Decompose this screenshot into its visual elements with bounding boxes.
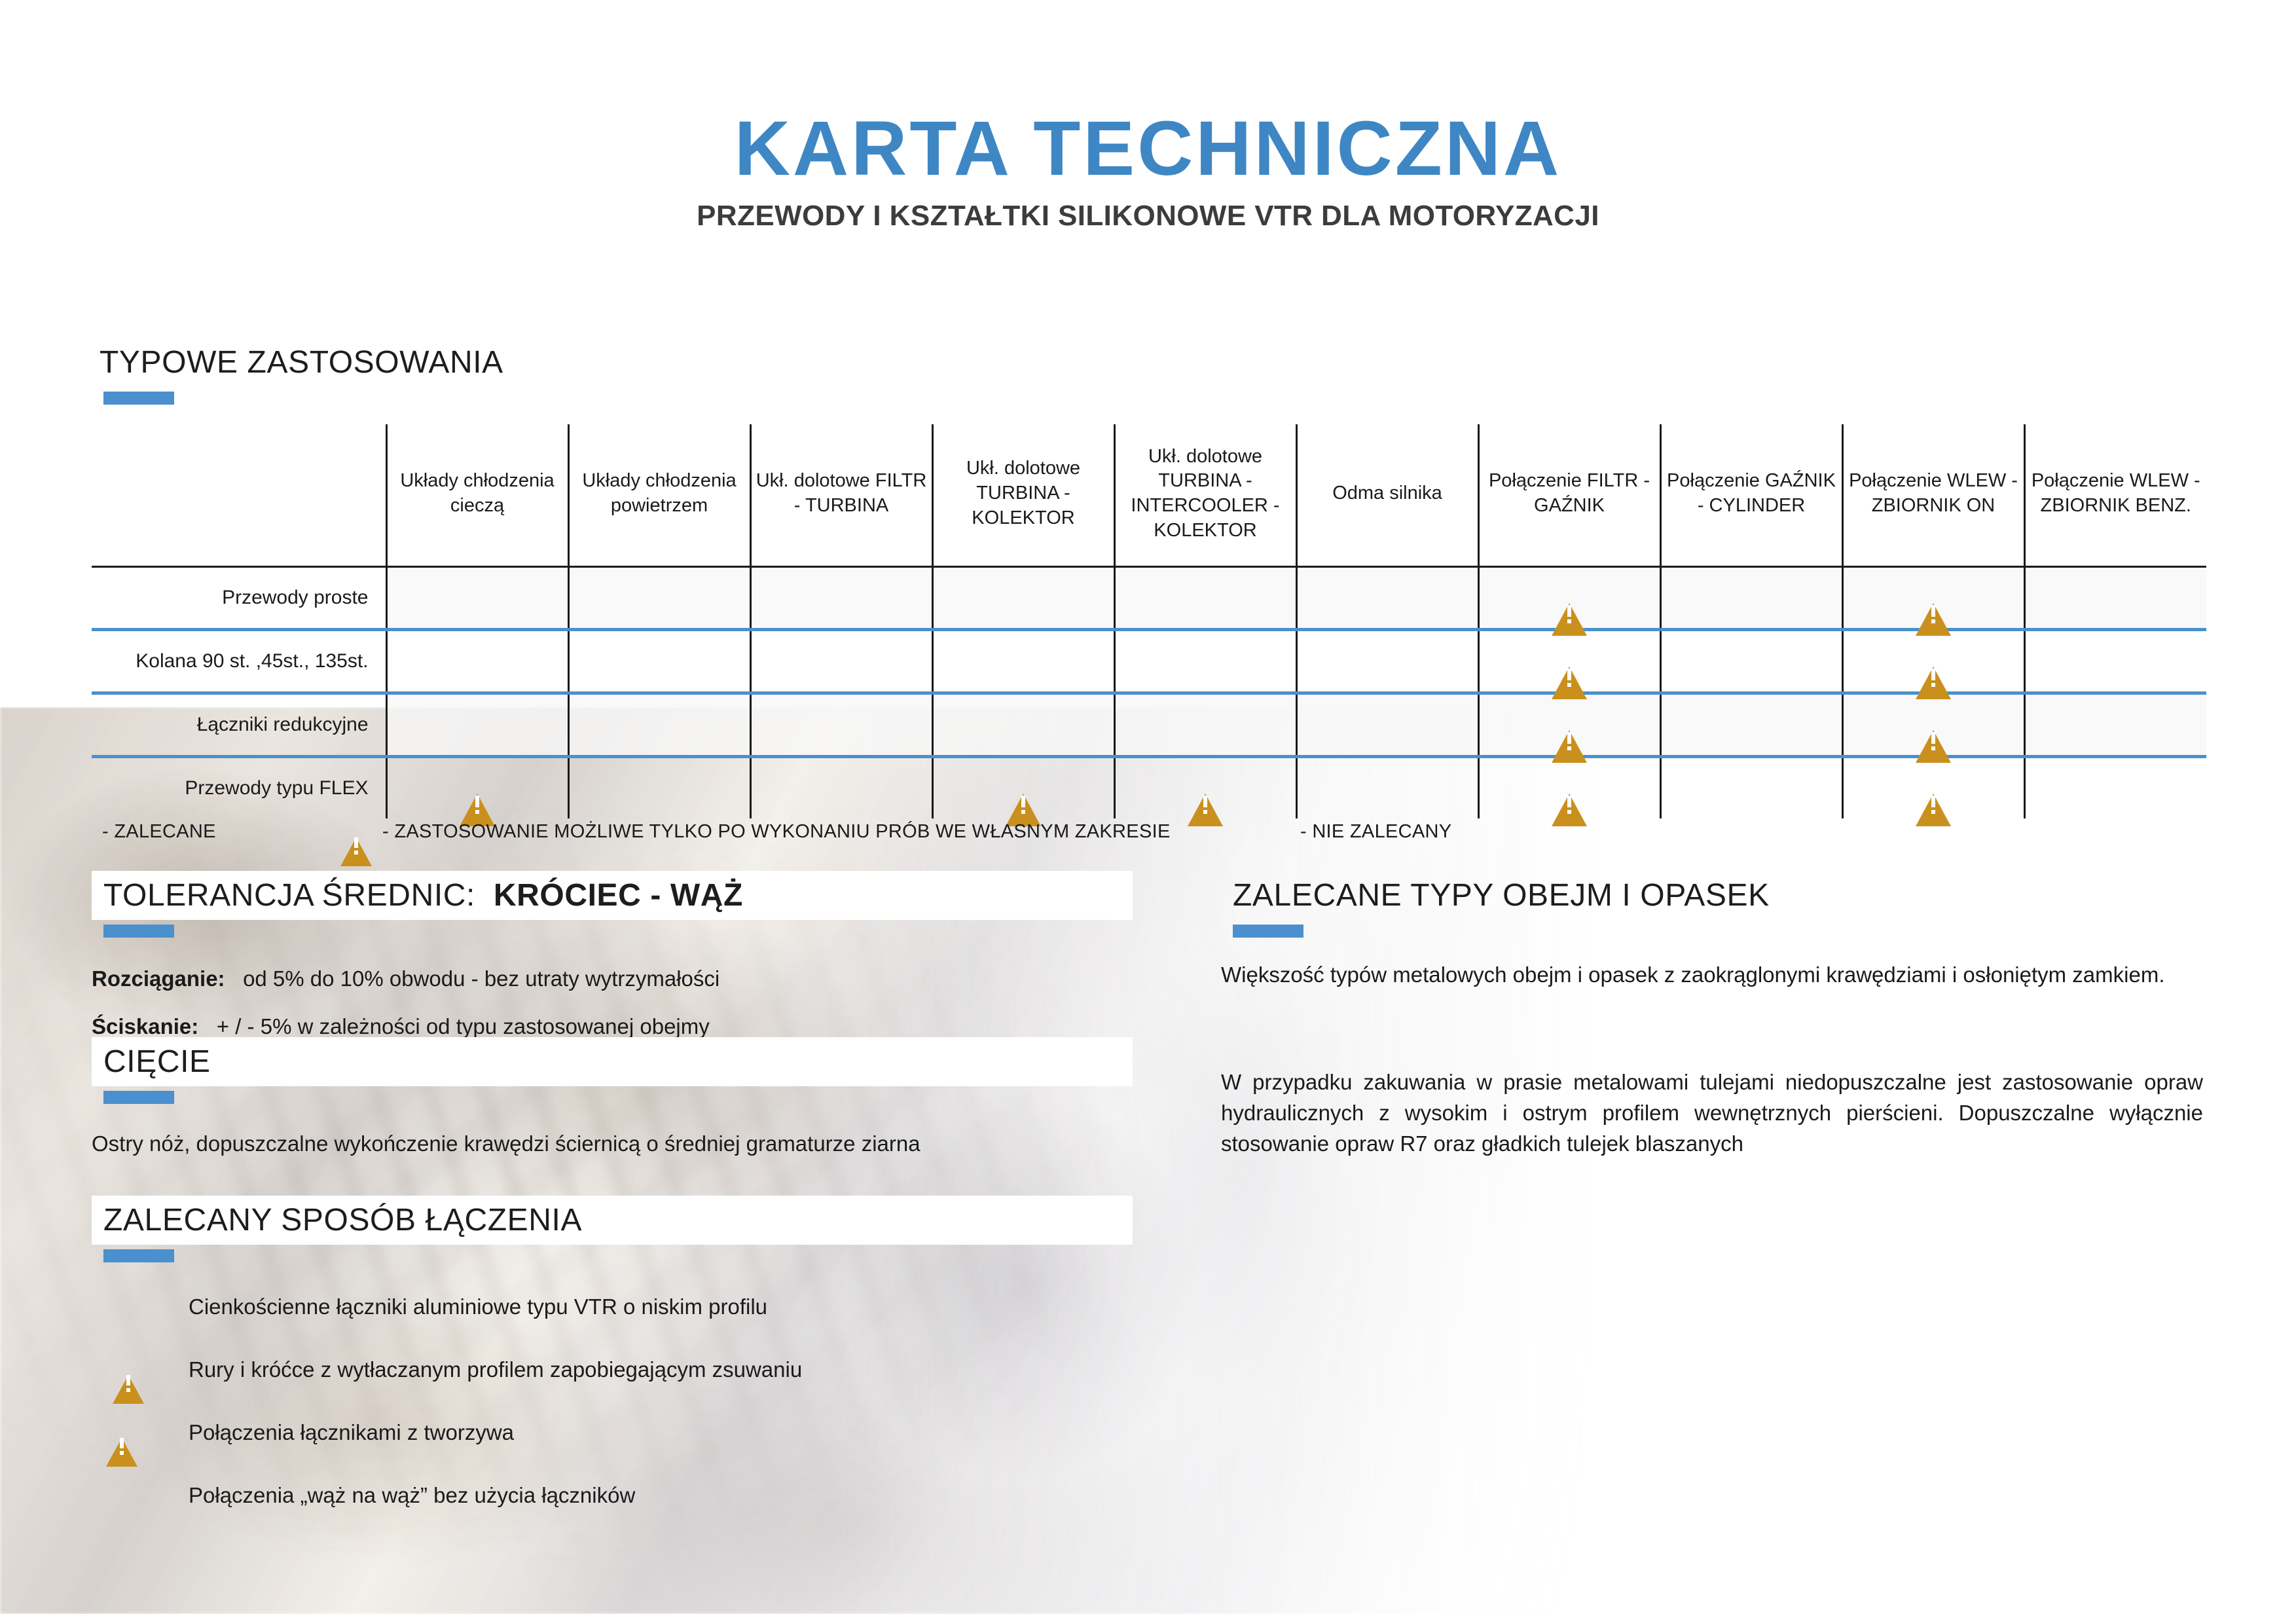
heading-text: CIĘCIE bbox=[103, 1044, 211, 1079]
legend-item-recommended: - ZALECANE bbox=[92, 821, 216, 843]
legend-item-not-recommended: - NIE ZALECANY bbox=[1290, 821, 1451, 843]
item-icons bbox=[92, 1427, 189, 1439]
table-cell-status bbox=[386, 693, 568, 757]
table-cell-status bbox=[1660, 567, 1842, 630]
heading-accent-rule bbox=[103, 1091, 174, 1104]
technical-data-sheet-page: KARTA TECHNICZNA PRZEWODY I KSZTAŁTKI SI… bbox=[0, 0, 2296, 1614]
column-header: Ukł. dolotowe TURBINA - KOLEKTOR bbox=[932, 424, 1114, 567]
table-cell-status bbox=[932, 567, 1114, 630]
legend-item-conditional: - ZASTOSOWANIE MOŻLIWE TYLKO PO WYKONANI… bbox=[340, 821, 1171, 843]
section-heading-ciecie: CIĘCIE bbox=[92, 1037, 1133, 1104]
legend-label: - NIE ZALECANY bbox=[1300, 821, 1451, 843]
heading-text: ZALECANY SPOSÓB ŁĄCZENIA bbox=[103, 1203, 582, 1238]
table-cell-status bbox=[2024, 567, 2206, 630]
warning-icon bbox=[1916, 592, 1951, 604]
table-cell-status bbox=[1478, 693, 1660, 757]
table-cell-status bbox=[2024, 757, 2206, 819]
item-icons bbox=[92, 1364, 189, 1376]
row-label: Przewody proste bbox=[92, 567, 386, 630]
section-heading-zalecane-typy-obejm: ZALECANE TYPY OBEJM I OPASEK bbox=[1221, 871, 2216, 938]
table-cell-status bbox=[1296, 630, 1478, 693]
table-cell-status bbox=[1296, 693, 1478, 757]
table-row: Przewody proste bbox=[92, 567, 2206, 630]
table-cell-status bbox=[1296, 757, 1478, 819]
warning-icon bbox=[113, 1364, 144, 1376]
heading-text-normal: TOLERANCJA ŚREDNIC: bbox=[103, 878, 475, 913]
heading-accent-rule bbox=[103, 925, 174, 938]
warning-icon bbox=[340, 826, 372, 838]
table-cell-status bbox=[386, 567, 568, 630]
warning-icon bbox=[1552, 592, 1587, 604]
table-cell-status bbox=[932, 693, 1114, 757]
table-cell-status bbox=[1842, 630, 2024, 693]
zalecany-sposob-list: Cienkościenne łączniki aluminiowe typu V… bbox=[92, 1289, 1133, 1540]
table-cell-status bbox=[568, 757, 750, 819]
zalecany-sposob-item: Połączenia „wąż na wąż” bez użycia łączn… bbox=[92, 1477, 1133, 1514]
tolerancja-row-label: Rozciąganie: bbox=[92, 966, 225, 991]
column-header: Połączenie GAŹNIK - CYLINDER bbox=[1660, 424, 1842, 567]
row-label: Łączniki redukcyjne bbox=[92, 693, 386, 757]
warning-icon bbox=[1916, 719, 1951, 731]
warning-icon bbox=[1916, 782, 1951, 794]
applications-table: Układy chłodzenia cieczą Układy chłodzen… bbox=[92, 424, 2206, 818]
column-header: Odma silnika bbox=[1296, 424, 1478, 567]
ciecie-body-text: Ostry nóż, dopuszczalne wykończenie kraw… bbox=[92, 1129, 1080, 1160]
heading-band: ZALECANE TYPY OBEJM I OPASEK bbox=[1221, 871, 2216, 920]
column-header: Ukł. dolotowe TURBINA - INTERCOOLER - KO… bbox=[1114, 424, 1296, 567]
column-header: Połączenie FILTR - GAŹNIK bbox=[1478, 424, 1660, 567]
section-heading-typowe-zastosowania: TYPOWE ZASTOSOWANIA bbox=[92, 338, 681, 405]
table-corner-cell bbox=[92, 424, 386, 567]
warning-icon bbox=[1188, 782, 1223, 794]
warning-icon bbox=[106, 1427, 137, 1439]
page-subtitle: PRZEWODY I KSZTAŁTKI SILIKONOWE VTR DLA … bbox=[0, 202, 2296, 230]
obejmy-paragraph-2: W przypadku zakuwania w prasie metalowam… bbox=[1221, 1067, 2203, 1160]
table-cell-status bbox=[1660, 693, 1842, 757]
table-cell-status bbox=[2024, 630, 2206, 693]
heading-text: ZALECANE TYPY OBEJM I OPASEK bbox=[1233, 878, 1770, 913]
heading-text: TYPOWE ZASTOSOWANIA bbox=[100, 345, 503, 380]
heading-text-bold: KRÓCIEC - WĄŻ bbox=[494, 878, 743, 913]
table-row: Łączniki redukcyjne bbox=[92, 693, 2206, 757]
heading-accent-rule bbox=[103, 1249, 174, 1262]
warning-icon bbox=[1552, 782, 1587, 794]
table-cell-status bbox=[1842, 567, 2024, 630]
table-cell-status bbox=[1114, 757, 1296, 819]
row-label: Kolana 90 st. ,45st., 135st. bbox=[92, 630, 386, 693]
table-cell-status bbox=[2024, 693, 2206, 757]
table-cell-status bbox=[750, 757, 932, 819]
table-cell-status bbox=[568, 630, 750, 693]
table-cell-status bbox=[1296, 567, 1478, 630]
table-cell-status bbox=[1842, 693, 2024, 757]
table-cell-status bbox=[1114, 693, 1296, 757]
section-heading-tolerancja: TOLERANCJA ŚREDNIC: KRÓCIEC - WĄŻ bbox=[92, 871, 1133, 938]
heading-text: TOLERANCJA ŚREDNIC: KRÓCIEC - WĄŻ bbox=[103, 878, 743, 913]
legend: - ZALECANE - ZASTOSOWANIE MOŻLIWE TYLKO … bbox=[92, 817, 1597, 864]
table-cell-status bbox=[750, 630, 932, 693]
table-cell-status bbox=[1478, 567, 1660, 630]
heading-accent-rule bbox=[103, 392, 174, 405]
table-header-row: Układy chłodzenia cieczą Układy chłodzen… bbox=[92, 424, 2206, 567]
row-label: Przewody typu FLEX bbox=[92, 757, 386, 819]
table-cell-status bbox=[1478, 757, 1660, 819]
table-cell-status bbox=[750, 693, 932, 757]
table-cell-status bbox=[932, 757, 1114, 819]
item-label: Cienkościenne łączniki aluminiowe typu V… bbox=[189, 1294, 767, 1319]
table-cell-status bbox=[568, 567, 750, 630]
heading-band: ZALECANY SPOSÓB ŁĄCZENIA bbox=[92, 1196, 1133, 1245]
table-cell-status bbox=[932, 630, 1114, 693]
column-header: Połączenie WLEW - ZBIORNIK ON bbox=[1842, 424, 2024, 567]
warning-icon bbox=[1006, 782, 1041, 794]
warning-icon bbox=[460, 782, 495, 794]
table-cell-status bbox=[386, 757, 568, 819]
table-cell-status bbox=[386, 630, 568, 693]
obejmy-paragraph-1: Większość typów metalowych obejm i opase… bbox=[1221, 960, 2203, 991]
heading-band: CIĘCIE bbox=[92, 1037, 1133, 1086]
column-header: Ukł. dolotowe FILTR - TURBINA bbox=[750, 424, 932, 567]
column-header: Układy chłodzenia powietrzem bbox=[568, 424, 750, 567]
warning-icon bbox=[1916, 655, 1951, 667]
heading-accent-rule bbox=[1233, 925, 1303, 938]
table-cell-status bbox=[1842, 757, 2024, 819]
item-label: Połączenia łącznikami z tworzywa bbox=[189, 1420, 514, 1445]
heading-band: TOLERANCJA ŚREDNIC: KRÓCIEC - WĄŻ bbox=[92, 871, 1133, 920]
page-header: KARTA TECHNICZNA PRZEWODY I KSZTAŁTKI SI… bbox=[0, 0, 2296, 230]
table-row: Przewody typu FLEX bbox=[92, 757, 2206, 819]
table-cell-status bbox=[750, 567, 932, 630]
section-heading-zalecany-sposob-laczenia: ZALECANY SPOSÓB ŁĄCZENIA bbox=[92, 1196, 1133, 1262]
tolerancja-row-value: od 5% do 10% obwodu - bez utraty wytrzym… bbox=[243, 966, 720, 991]
tolerancja-row: Rozciąganie: od 5% do 10% obwodu - bez u… bbox=[92, 964, 1133, 995]
table-row: Kolana 90 st. ,45st., 135st. bbox=[92, 630, 2206, 693]
table-cell-status bbox=[1478, 630, 1660, 693]
table-cell-status bbox=[1660, 757, 1842, 819]
item-label: Rury i króćce z wytłaczanym profilem zap… bbox=[189, 1357, 802, 1382]
table-cell-status bbox=[568, 693, 750, 757]
item-label: Połączenia „wąż na wąż” bez użycia łączn… bbox=[189, 1483, 635, 1508]
column-header: Połączenie WLEW - ZBIORNIK BENZ. bbox=[2024, 424, 2206, 567]
tolerancja-row-value: + / - 5% w zależności od typu zastosowan… bbox=[217, 1014, 710, 1038]
zalecany-sposob-item: Rury i króćce z wytłaczanym profilem zap… bbox=[92, 1351, 1133, 1388]
table-body: Przewody prosteKolana 90 st. ,45st., 135… bbox=[92, 567, 2206, 819]
page-title: KARTA TECHNICZNA bbox=[0, 110, 2296, 187]
heading-band: TYPOWE ZASTOSOWANIA bbox=[92, 338, 681, 387]
warning-icon bbox=[1552, 719, 1587, 731]
column-header: Układy chłodzenia cieczą bbox=[386, 424, 568, 567]
table-cell-status bbox=[1114, 567, 1296, 630]
legend-label: - ZASTOSOWANIE MOŻLIWE TYLKO PO WYKONANI… bbox=[382, 821, 1171, 843]
zalecany-sposob-item: Cienkościenne łączniki aluminiowe typu V… bbox=[92, 1289, 1133, 1325]
warning-icon bbox=[1552, 655, 1587, 667]
tolerancja-row-label: Ściskanie: bbox=[92, 1014, 198, 1038]
legend-label: - ZALECANE bbox=[102, 821, 216, 843]
table-cell-status bbox=[1114, 630, 1296, 693]
table-cell-status bbox=[1660, 630, 1842, 693]
zalecany-sposob-item: Połączenia łącznikami z tworzywa bbox=[92, 1414, 1133, 1451]
